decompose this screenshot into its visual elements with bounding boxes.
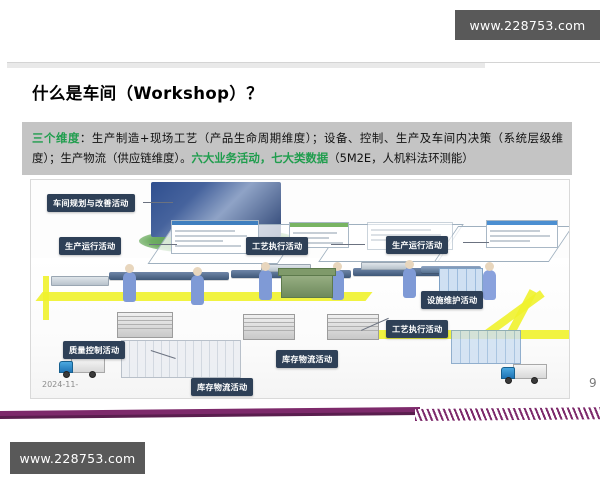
summary-textbox: 三个维度：生产制造+现场工艺（产品生命周期维度）；设备、控制、生产及车间内决策（… <box>22 122 572 175</box>
pallet-cart-2 <box>327 314 379 340</box>
worker-2 <box>191 275 204 305</box>
leader-line-2 <box>149 244 177 245</box>
page-title: 什么是车间（Workshop）？ <box>32 80 263 104</box>
diagram-tag: 库存物流活动 <box>276 350 338 368</box>
slide-page: www.228753.com 什么是车间（Workshop）？ 三个维度：生产制… <box>0 0 600 480</box>
diagram-tag: 工艺执行活动 <box>386 320 448 338</box>
presentation-slide: 什么是车间（Workshop）？ 三个维度：生产制造+现场工艺（产品生命周期维度… <box>7 62 600 412</box>
pallet-stack-1 <box>117 312 173 338</box>
workbench-1 <box>51 276 109 286</box>
diagram-tag: 生产运行活动 <box>59 237 121 255</box>
body-separator: ， <box>260 151 271 165</box>
worker-5 <box>403 268 416 298</box>
worker-6 <box>483 270 496 300</box>
body-text-part-2: （5M2E，人机料法环测能） <box>328 151 473 165</box>
diagram-tag: 生产运行活动 <box>386 236 448 254</box>
warehouse-rack-left <box>121 340 241 378</box>
worker-3 <box>259 270 272 300</box>
leader-line-1 <box>143 202 173 203</box>
workshop-diagram-image: 车间规划与改善活动生产运行活动工艺执行活动生产运行活动设施维护活动质量控制活动工… <box>30 179 570 399</box>
diagram-tag: 质量控制活动 <box>63 341 125 359</box>
leader-line-4 <box>463 242 489 243</box>
worker-1 <box>123 272 136 302</box>
highlight-three-dimensions: 三个维度 <box>32 131 80 145</box>
highlight-six-activities: 六大业务活动 <box>191 151 259 165</box>
warehouse-building <box>281 272 333 298</box>
delivery-truck-right <box>501 364 547 384</box>
slide-top-strip <box>7 63 485 68</box>
leader-line-3 <box>331 244 365 245</box>
pallet-cart-1 <box>243 314 295 340</box>
watermark-top-right: www.228753.com <box>455 10 600 40</box>
highlight-seven-data-types: 七大类数据 <box>271 151 328 165</box>
diagram-tag: 库存物流活动 <box>191 378 253 396</box>
watermark-top-text: www.228753.com <box>469 18 585 33</box>
watermark-bottom-left: www.228753.com <box>10 442 145 474</box>
walkway-path-left <box>43 276 49 320</box>
diagram-tag: 工艺执行活动 <box>246 237 308 255</box>
delivery-truck-left <box>59 358 105 378</box>
barcode-terminal <box>439 268 483 292</box>
slide-date: 2024-11- <box>42 380 78 389</box>
diagram-tag: 车间规划与改善活动 <box>47 194 135 212</box>
warehouse-rack-right <box>451 330 521 364</box>
slide-page-number: 9 <box>589 376 597 390</box>
divider-bar-hatched <box>415 407 600 421</box>
diagram-tag: 设施维护活动 <box>421 291 483 309</box>
decorative-divider-bar <box>0 408 600 424</box>
mes-screen-far-right <box>486 220 558 248</box>
workbench-3 <box>361 262 407 270</box>
watermark-bottom-text: www.228753.com <box>19 451 135 466</box>
